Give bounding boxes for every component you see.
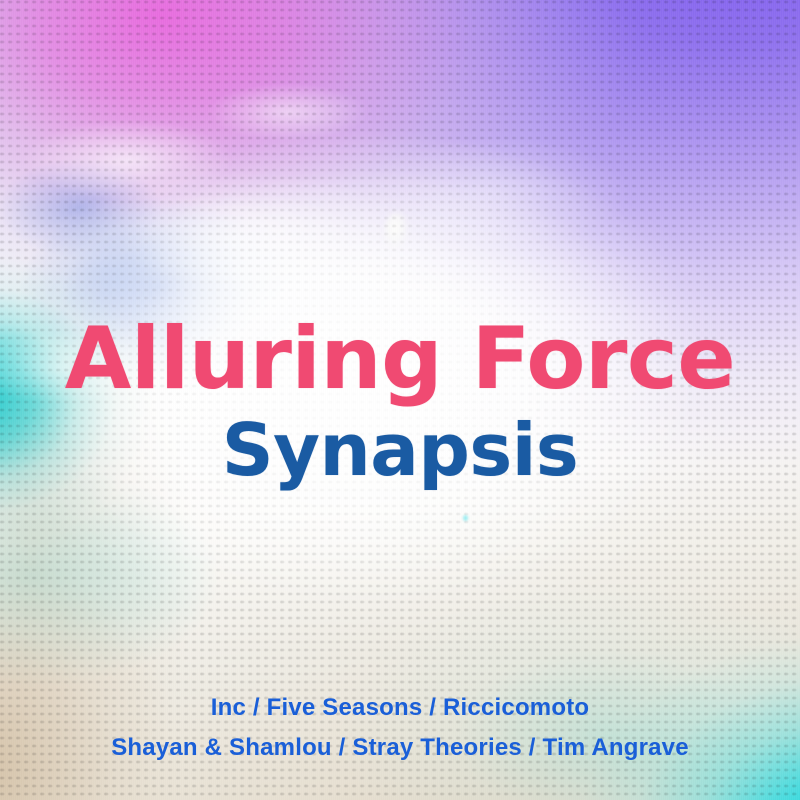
credits-line-1: Inc / Five Seasons / Riccicomoto <box>0 688 800 728</box>
credits-line-2: Shayan & Shamlou / Stray Theories / Tim … <box>0 728 800 768</box>
album-title: Alluring Force <box>0 316 800 402</box>
cover-typography: Alluring Force Synapsis Inc / Five Seaso… <box>0 0 800 800</box>
credits-block: Inc / Five Seasons / Riccicomoto Shayan … <box>0 688 800 768</box>
album-cover: Alluring Force Synapsis Inc / Five Seaso… <box>0 0 800 800</box>
album-subtitle: Synapsis <box>0 414 800 486</box>
